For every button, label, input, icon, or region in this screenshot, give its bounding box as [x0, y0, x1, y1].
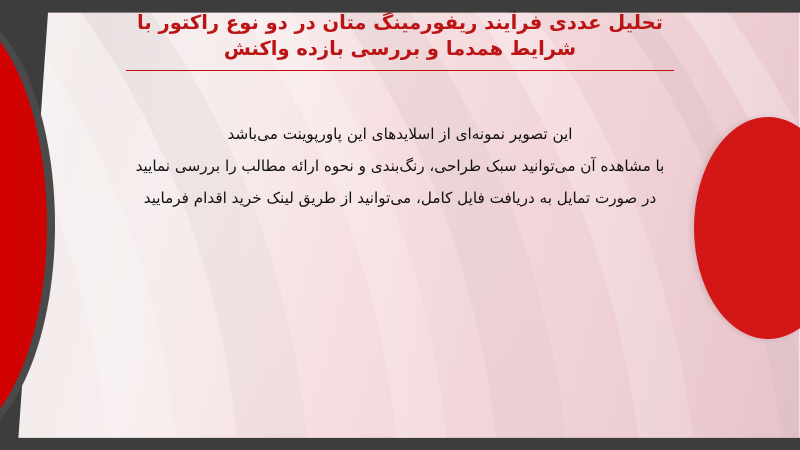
slide-title: تحلیل عددی فرآیند ریفورمینگ متان در دو ن… — [126, 10, 674, 62]
body-line-2: با مشاهده آن می‌توانید سبک طراحی، رنگ‌بن… — [120, 150, 680, 182]
slide-body-text: این تصویر نمونه‌ای از اسلایدهای این پاور… — [120, 118, 680, 214]
title-line-2: شرایط همدما و بررسی بازده واکنش — [126, 36, 674, 62]
presentation-slide: تحلیل عددی فرآیند ریفورمینگ متان در دو ن… — [0, 0, 800, 450]
body-line-3: در صورت تمایل به دریافت فایل کامل، می‌تو… — [120, 182, 680, 214]
title-underline-rule — [126, 70, 674, 71]
slide-content: تحلیل عددی فرآیند ریفورمینگ متان در دو ن… — [0, 0, 800, 450]
body-line-1: این تصویر نمونه‌ای از اسلایدهای این پاور… — [120, 118, 680, 150]
title-line-1: تحلیل عددی فرآیند ریفورمینگ متان در دو ن… — [126, 10, 674, 36]
